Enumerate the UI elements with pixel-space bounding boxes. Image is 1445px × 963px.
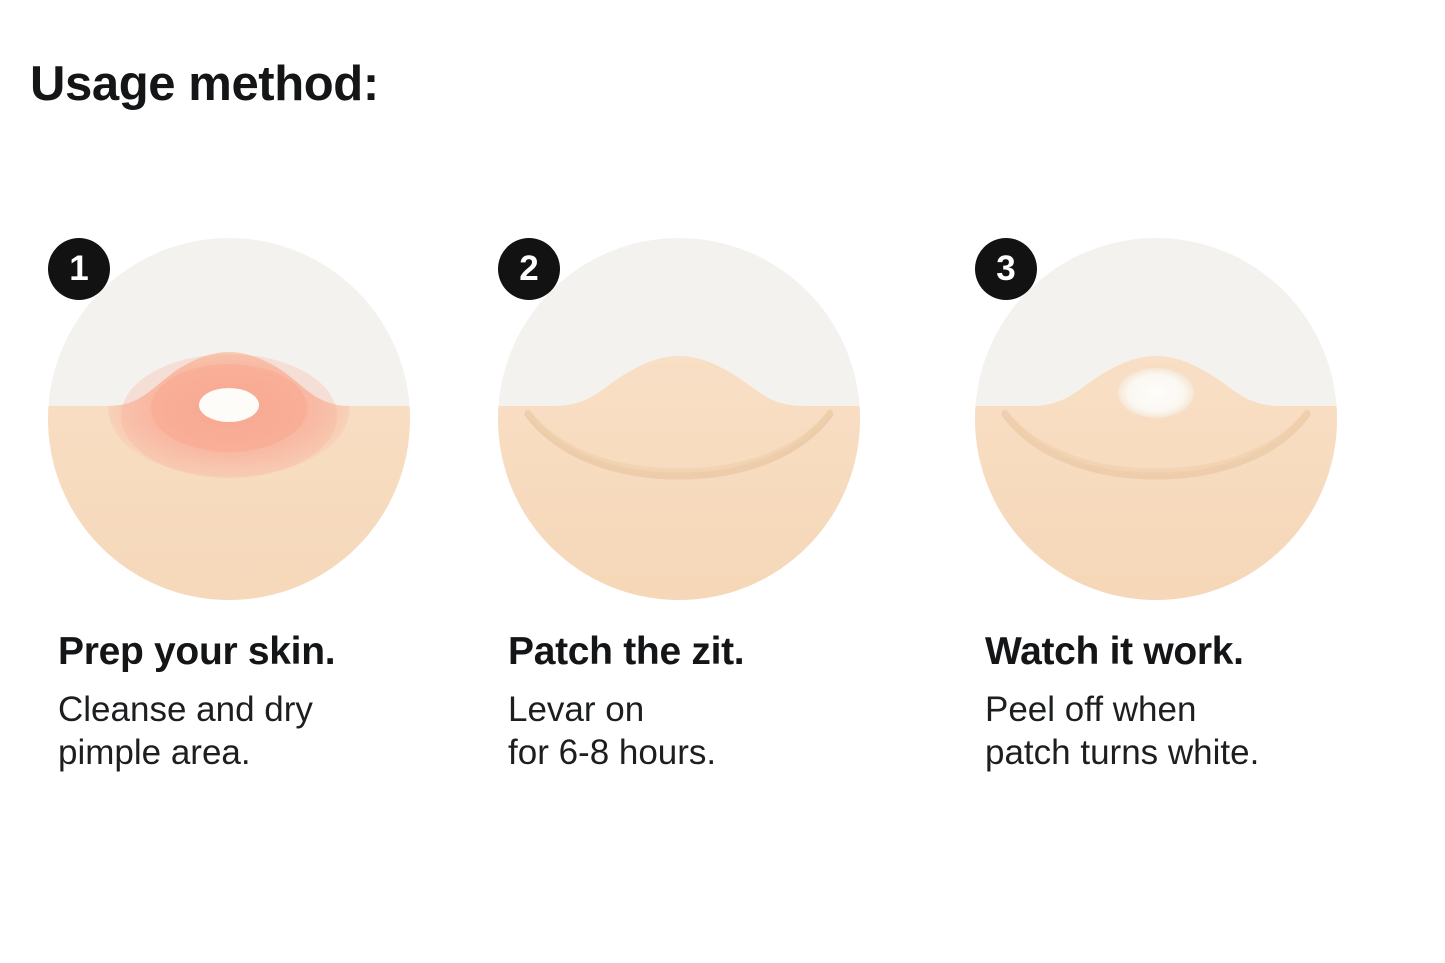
patch-applied-illustration [498,238,860,600]
step-3-badge: 3 [975,238,1037,300]
step-2-caption: Patch the zit. Levar on for 6-8 hours. [508,630,938,774]
step-2-number: 2 [519,251,538,286]
step-1-body: Cleanse and dry pimple area. [58,688,488,775]
inflamed-pimple-illustration [48,238,410,600]
step-3-number: 3 [996,251,1015,286]
step-3-title: Watch it work. [985,630,1415,674]
usage-step-1: 1 Prep your skin. Cleanse and dry pimple… [48,238,478,600]
step-1-number: 1 [69,251,88,286]
step-2-title: Patch the zit. [508,630,938,674]
step-1-figure: 1 [48,238,410,600]
patch-turned-white-illustration [975,238,1337,600]
step-1-title: Prep your skin. [58,630,488,674]
step-3-body-line-2: patch turns white. [985,731,1415,774]
step-3-body: Peel off when patch turns white. [985,688,1415,775]
step-1-body-line-1: Cleanse and dry [58,688,488,731]
step-2-badge: 2 [498,238,560,300]
step-2-figure: 2 [498,238,860,600]
usage-step-3: 3 Watch it work. Peel off when patch tur… [975,238,1405,600]
step-1-caption: Prep your skin. Cleanse and dry pimple a… [58,630,488,774]
step-1-badge: 1 [48,238,110,300]
usage-steps-list: 1 Prep your skin. Cleanse and dry pimple… [0,0,1445,963]
step-3-figure: 3 [975,238,1337,600]
usage-step-2: 2 Patch the zit. Levar on for 6-8 hours. [498,238,928,600]
step-3-body-line-1: Peel off when [985,688,1415,731]
step-2-body-line-2: for 6-8 hours. [508,731,938,774]
step-2-body: Levar on for 6-8 hours. [508,688,938,775]
step-2-body-line-1: Levar on [508,688,938,731]
step-3-caption: Watch it work. Peel off when patch turns… [985,630,1415,774]
step-1-body-line-2: pimple area. [58,731,488,774]
